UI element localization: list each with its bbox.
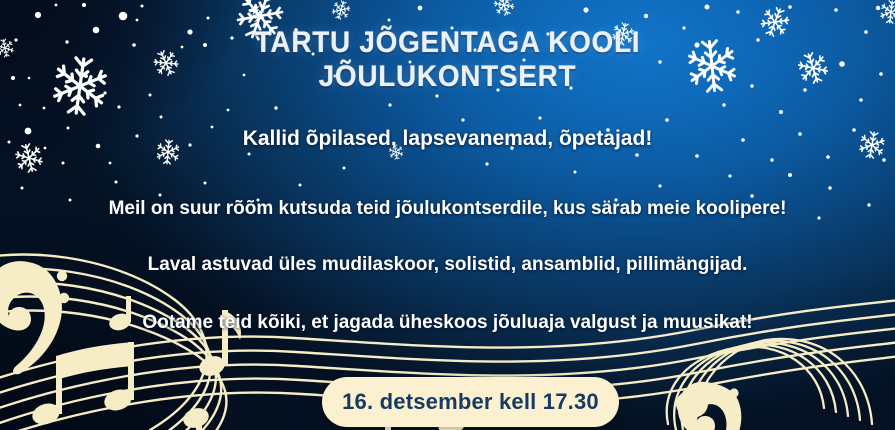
date-time-text: 16. detsember kell 17.30 — [342, 389, 599, 415]
invitation-paragraph: Meil on suur rõõm kutsuda teid jõulukont… — [78, 194, 817, 224]
date-time-badge: 16. detsember kell 17.30 — [322, 377, 619, 427]
christmas-concert-poster: TARTU JÕGENTAGA KOOLI JÕULUKONTSERT Kall… — [0, 0, 895, 430]
performers-line: Laval astuvad üles mudilaskoor, solistid… — [40, 254, 855, 276]
poster-content: TARTU JÕGENTAGA KOOLI JÕULUKONTSERT Kall… — [0, 0, 895, 430]
greeting-text: Kallid õpilased, lapsevanemad, õpetajad! — [0, 127, 895, 151]
closing-line: Ootame teid kõiki, et jagada üheskoos jõ… — [40, 312, 855, 334]
title-line-1: TARTU JÕGENTAGA KOOLI — [255, 26, 641, 59]
page-title: TARTU JÕGENTAGA KOOLI JÕULUKONTSERT — [31, 26, 863, 94]
title-line-2: JÕULUKONTSERT — [31, 60, 863, 94]
